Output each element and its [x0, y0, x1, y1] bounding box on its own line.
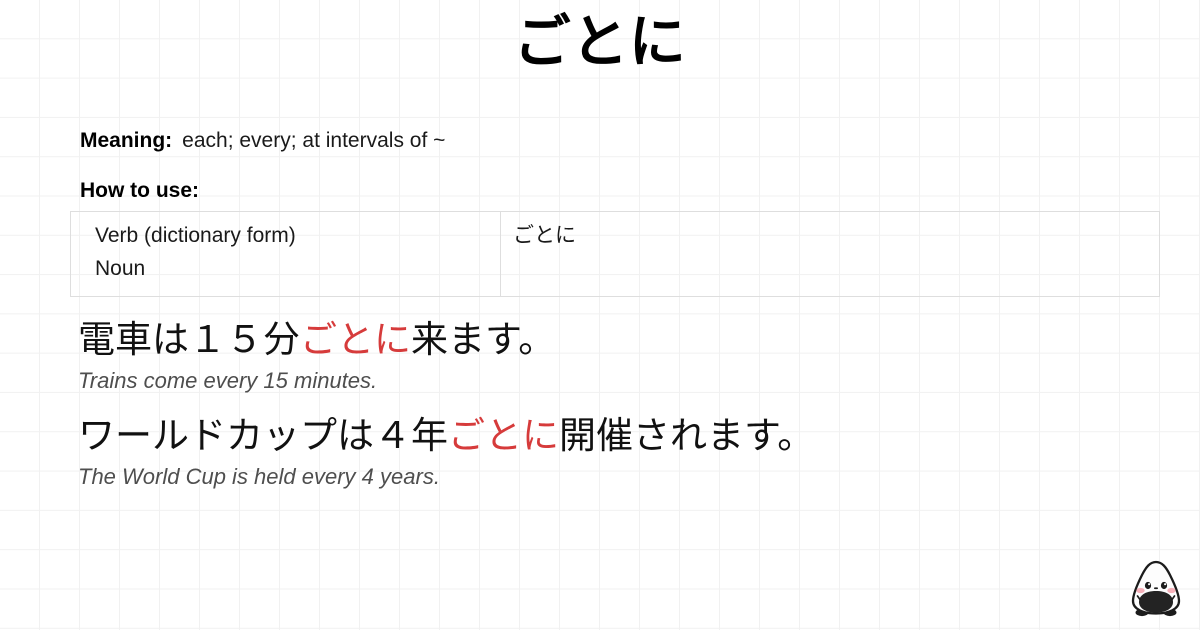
usage-table-cell-pattern: ごとに	[501, 212, 1159, 296]
example-2-jp-before: ワールドカップは４年	[78, 415, 448, 456]
example-2-jp-highlight: ごとに	[448, 415, 559, 456]
meaning-text: each; every; at intervals of ~	[182, 129, 445, 152]
usage-table-cell-forms: Verb (dictionary form) Noun	[71, 212, 501, 296]
usage-pattern-text: ごとに	[513, 220, 1159, 253]
example-1-japanese: 電車は１５分ごとに来ます。	[78, 317, 555, 363]
example-sentence-1: 電車は１５分ごとに来ます。 Trains come every 15 minut…	[78, 317, 555, 396]
example-sentence-2: ワールドカップは４年ごとに開催されます。 The World Cup is he…	[78, 413, 814, 492]
usage-table: Verb (dictionary form) Noun ごとに	[70, 211, 1160, 297]
usage-form-verb: Verb (dictionary form)	[95, 220, 500, 253]
how-to-use-label: How to use:	[80, 176, 199, 206]
example-1-translation: Trains come every 15 minutes.	[78, 366, 555, 396]
meaning-label: Meaning:	[80, 129, 172, 152]
example-1-jp-before: 電車は１５分	[78, 319, 300, 360]
example-2-japanese: ワールドカップは４年ごとに開催されます。	[78, 413, 814, 459]
example-2-jp-after: 開催されます。	[559, 415, 814, 456]
usage-form-noun: Noun	[95, 253, 500, 286]
example-2-translation: The World Cup is held every 4 years.	[78, 462, 814, 492]
onigiri-mascot-icon	[1124, 558, 1188, 620]
page-title: ごとに	[0, 8, 1200, 76]
example-1-jp-highlight: ごとに	[300, 319, 411, 360]
meaning-row: Meaning:each; every; at intervals of ~	[80, 126, 445, 156]
example-1-jp-after: 来ます。	[411, 319, 555, 360]
grammar-card: ごとに Meaning:each; every; at intervals of…	[0, 0, 1200, 630]
